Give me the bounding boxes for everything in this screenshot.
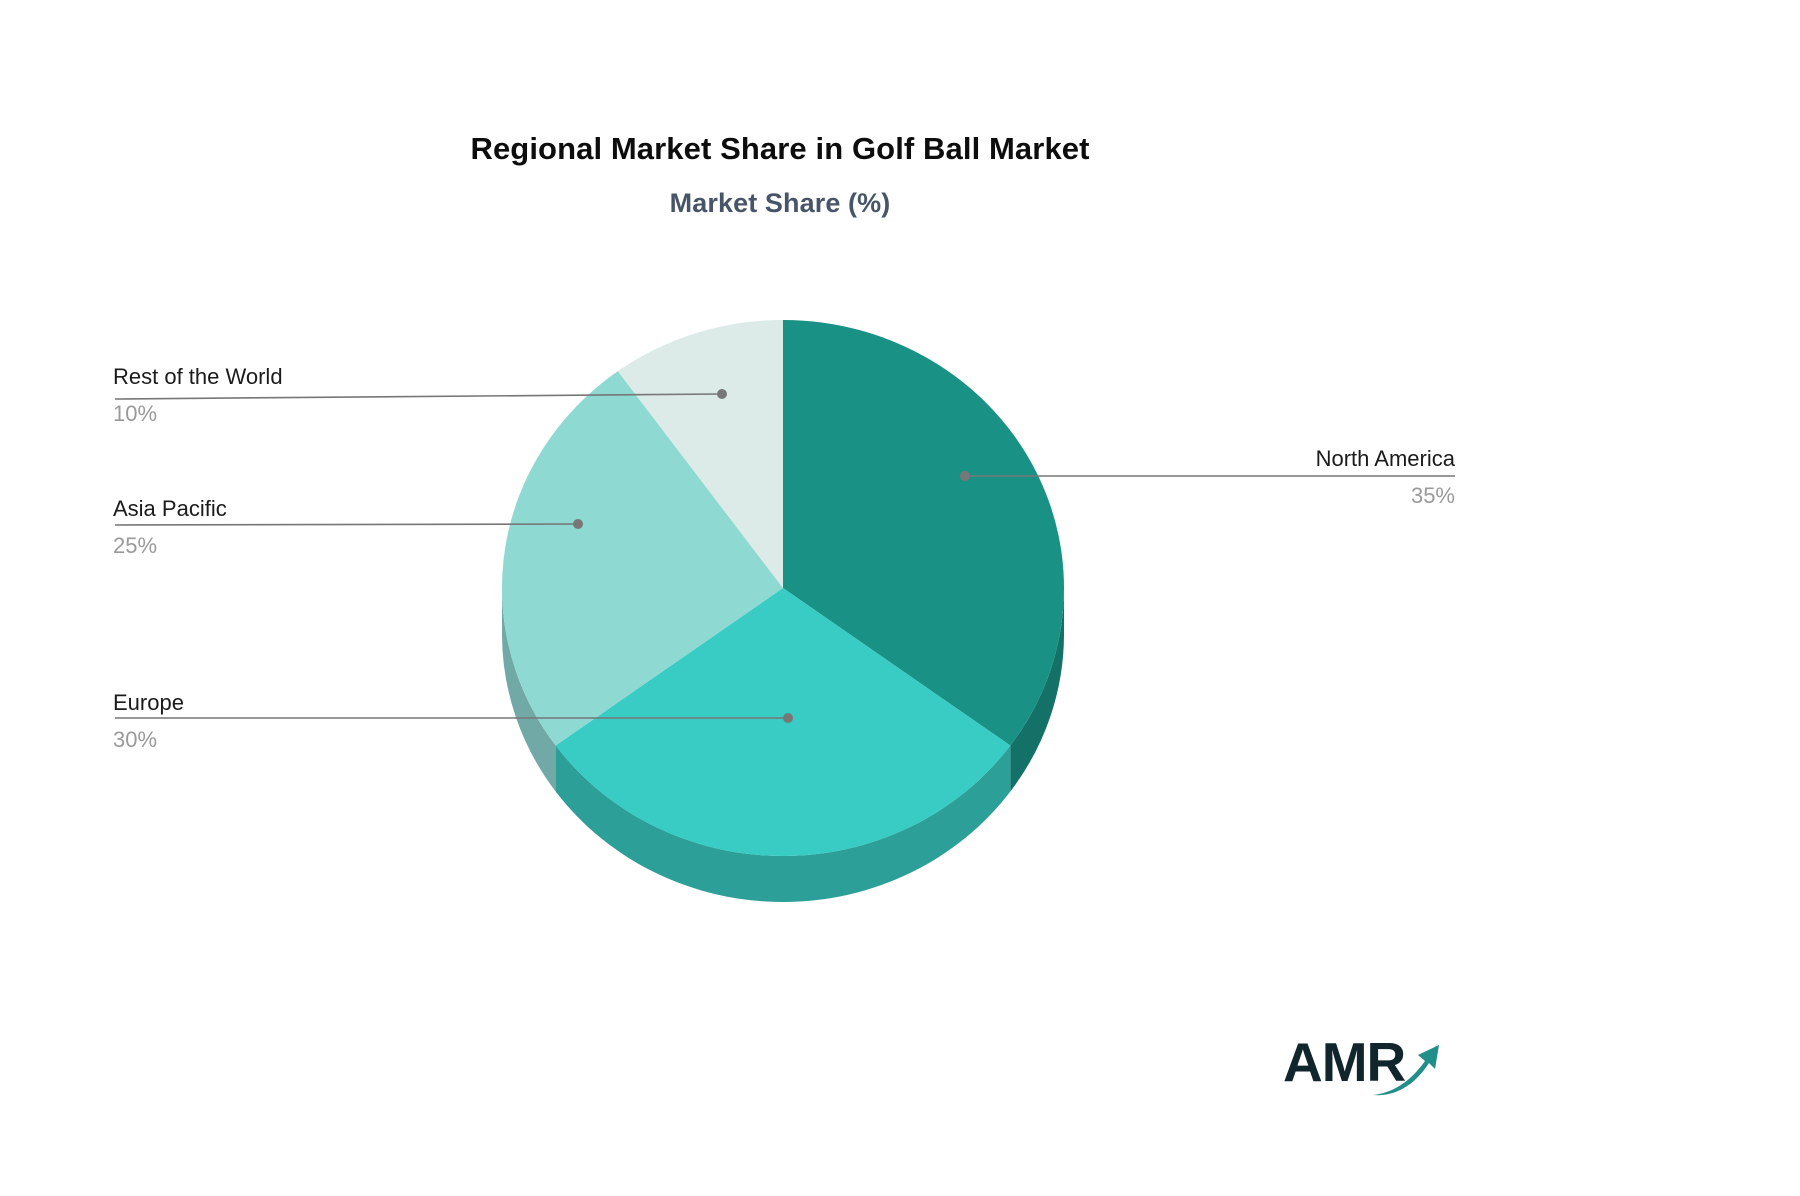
callout-category-label: North America [1155,445,1455,473]
callout-category-label: Europe [113,689,184,717]
callout-asia-pacific: Asia Pacific 25% [113,495,227,559]
leader-dot-europe [783,713,793,723]
leader-dot-asia-pacific [573,519,583,529]
leader-dot-rest-of-the-world [717,389,727,399]
callout-north-america: North America 35% [1155,445,1455,509]
callout-rest-of-the-world: Rest of the World 10% [113,363,283,427]
trending-up-arrow-icon [1371,1037,1443,1101]
callout-value-label: 25% [113,532,227,560]
callout-category-label: Rest of the World [113,363,283,391]
pie-top-faces [502,320,1064,856]
pie-chart-figure: Regional Market Share in Golf Ball Marke… [0,0,1800,1196]
pie-chart-svg [0,0,1800,1196]
callout-europe: Europe 30% [113,689,184,753]
callout-category-label: Asia Pacific [113,495,227,523]
amr-logo: AMR [1283,1035,1443,1105]
callout-value-label: 10% [113,400,283,428]
leader-dot-north-america [960,471,970,481]
callout-value-label: 35% [1155,482,1455,510]
callout-value-label: 30% [113,726,184,754]
